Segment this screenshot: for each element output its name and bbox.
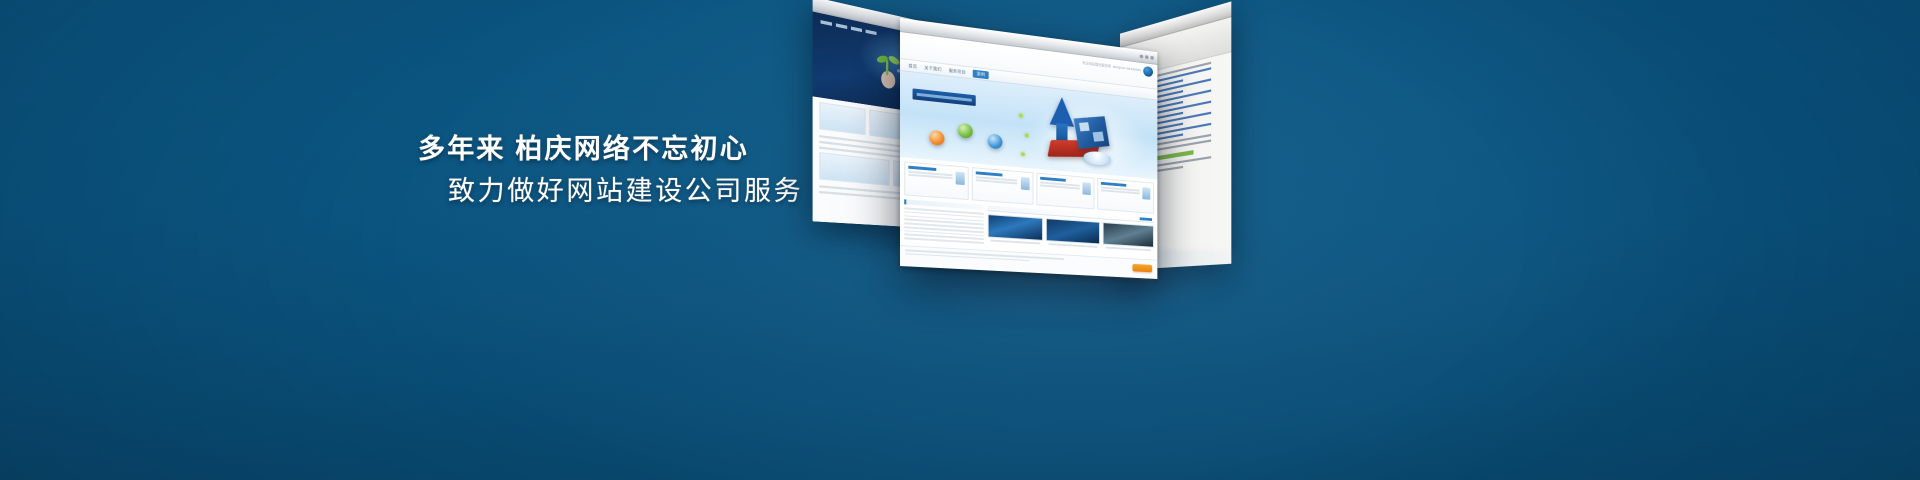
- nav-pill: [820, 20, 832, 26]
- window-minimize-icon: [1140, 54, 1144, 58]
- feature-card-title: [1040, 177, 1066, 182]
- nav-item-home[interactable]: 首页: [908, 62, 917, 69]
- case-thumbnail[interactable]: [1046, 218, 1099, 248]
- site-logo-subtext: BAIQING NETWORK: [1113, 65, 1141, 73]
- website-showcase: HAB: [820, 0, 1920, 480]
- case-thumbnail-caption: [1049, 243, 1097, 248]
- hand-sprout-illustration: [873, 44, 903, 91]
- window-close-icon: [1150, 55, 1154, 59]
- feature-card[interactable]: [1036, 173, 1095, 210]
- feature-card[interactable]: [1097, 178, 1153, 214]
- nav-pill: [851, 26, 862, 32]
- banner-stage: 多年来 柏庆网络不忘初心 致力做好网站建设公司服务: [0, 0, 1920, 480]
- news-column: [904, 199, 984, 246]
- feature-card-title: [975, 171, 1002, 176]
- product-tile: [819, 102, 865, 135]
- accent-dot: [1025, 133, 1029, 137]
- window-maximize-icon: [1145, 55, 1149, 59]
- case-thumbnail[interactable]: [1102, 222, 1153, 251]
- case-thumbnail[interactable]: [988, 214, 1044, 244]
- nav-item-about[interactable]: 关于我们: [924, 64, 941, 72]
- nav-item-cases[interactable]: 案例: [973, 69, 989, 79]
- blue-cube-graphic: [1074, 116, 1110, 148]
- monitor-icon: [1142, 187, 1150, 200]
- disc-base-graphic: [1083, 150, 1111, 166]
- accent-dot: [1019, 114, 1023, 118]
- site-logo: BAIQING NETWORK: [1113, 62, 1153, 77]
- nav-pill: [836, 23, 847, 29]
- feature-card[interactable]: [904, 161, 968, 200]
- feature-card-title: [908, 166, 936, 171]
- nav-pill: [866, 30, 877, 36]
- blue-arrow-graphic: [1050, 96, 1074, 127]
- case-thumbnail-image: [1046, 218, 1099, 244]
- accent-dot: [1021, 152, 1025, 156]
- case-thumbnail-caption: [1105, 247, 1151, 251]
- product-tile: [819, 152, 889, 186]
- globe-icon-orange: [929, 130, 944, 146]
- mockup-panel-center: 专业网站建设服务商 BAIQING NETWORK 首页 关于我们 服务项目 案…: [900, 18, 1157, 279]
- feature-card-title: [1101, 182, 1126, 186]
- logo-mark-icon: [1143, 66, 1153, 77]
- feature-card[interactable]: [971, 167, 1032, 205]
- mobile-phone-icon: [1020, 177, 1029, 190]
- globe-icon-green: [958, 123, 973, 139]
- site-logo-text: BAIQING NETWORK: [1113, 65, 1141, 73]
- footer-cta-button[interactable]: [1133, 264, 1153, 272]
- hero-badge: [913, 88, 976, 106]
- case-thumbnail-image: [988, 214, 1044, 241]
- grid-icon: [1083, 182, 1091, 195]
- site-slogan: 专业网站建设服务商: [1082, 61, 1111, 69]
- document-icon: [955, 172, 964, 185]
- case-thumbnail-image: [1102, 222, 1153, 248]
- globe-icon-blue: [988, 134, 1003, 150]
- nav-item-services[interactable]: 服务项目: [949, 67, 966, 75]
